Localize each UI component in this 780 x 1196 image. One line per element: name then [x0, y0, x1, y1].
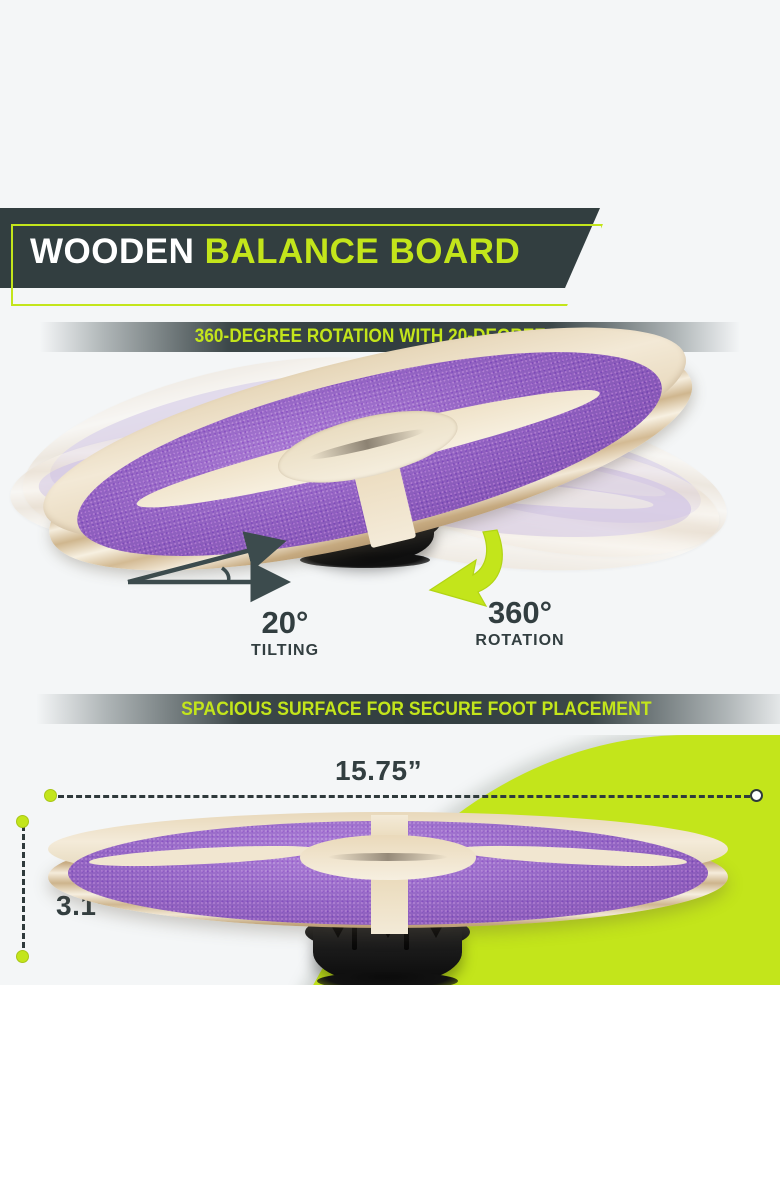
callout-rotation-label: ROTATION [425, 632, 615, 650]
dimension-width-endpoint-left [44, 789, 57, 802]
dimension-width-line [58, 795, 750, 798]
banner-spacious-surface-text: SPACIOUS SURFACE FOR SECURE FOOT PLACEME… [181, 698, 652, 721]
tilting-board-scene [0, 352, 780, 612]
infographic-canvas: WOODEN BALANCE BOARD 360-DEGREE ROTATION… [0, 0, 780, 985]
callout-tilt-label: TILTING [205, 642, 365, 660]
title-word-wooden: WOODEN [30, 232, 194, 271]
callout-rotation: 360° ROTATION [425, 597, 615, 650]
annotation-arrows [0, 352, 780, 612]
tilt-arrow-inclined [128, 543, 278, 582]
title-word-balance-board: BALANCE BOARD [205, 232, 521, 271]
infographic-page: WOODEN BALANCE BOARD 360-DEGREE ROTATION… [0, 0, 780, 1196]
dimension-height-endpoint-bottom [16, 950, 29, 963]
callout-tilt-value: 20° [205, 607, 365, 638]
dimension-width-endpoint-right [750, 789, 763, 802]
dimension-width-label: 15.75” [335, 755, 422, 787]
banner-spacious-surface: SPACIOUS SURFACE FOR SECURE FOOT PLACEME… [36, 694, 780, 724]
callout-tilt: 20° TILTING [205, 607, 365, 660]
balance-board-flat [48, 812, 728, 942]
page-title: WOODEN BALANCE BOARD [30, 234, 520, 269]
callout-rotation-value: 360° [425, 597, 615, 628]
dimension-height-line [22, 825, 25, 957]
dimension-height-endpoint-top [16, 815, 29, 828]
